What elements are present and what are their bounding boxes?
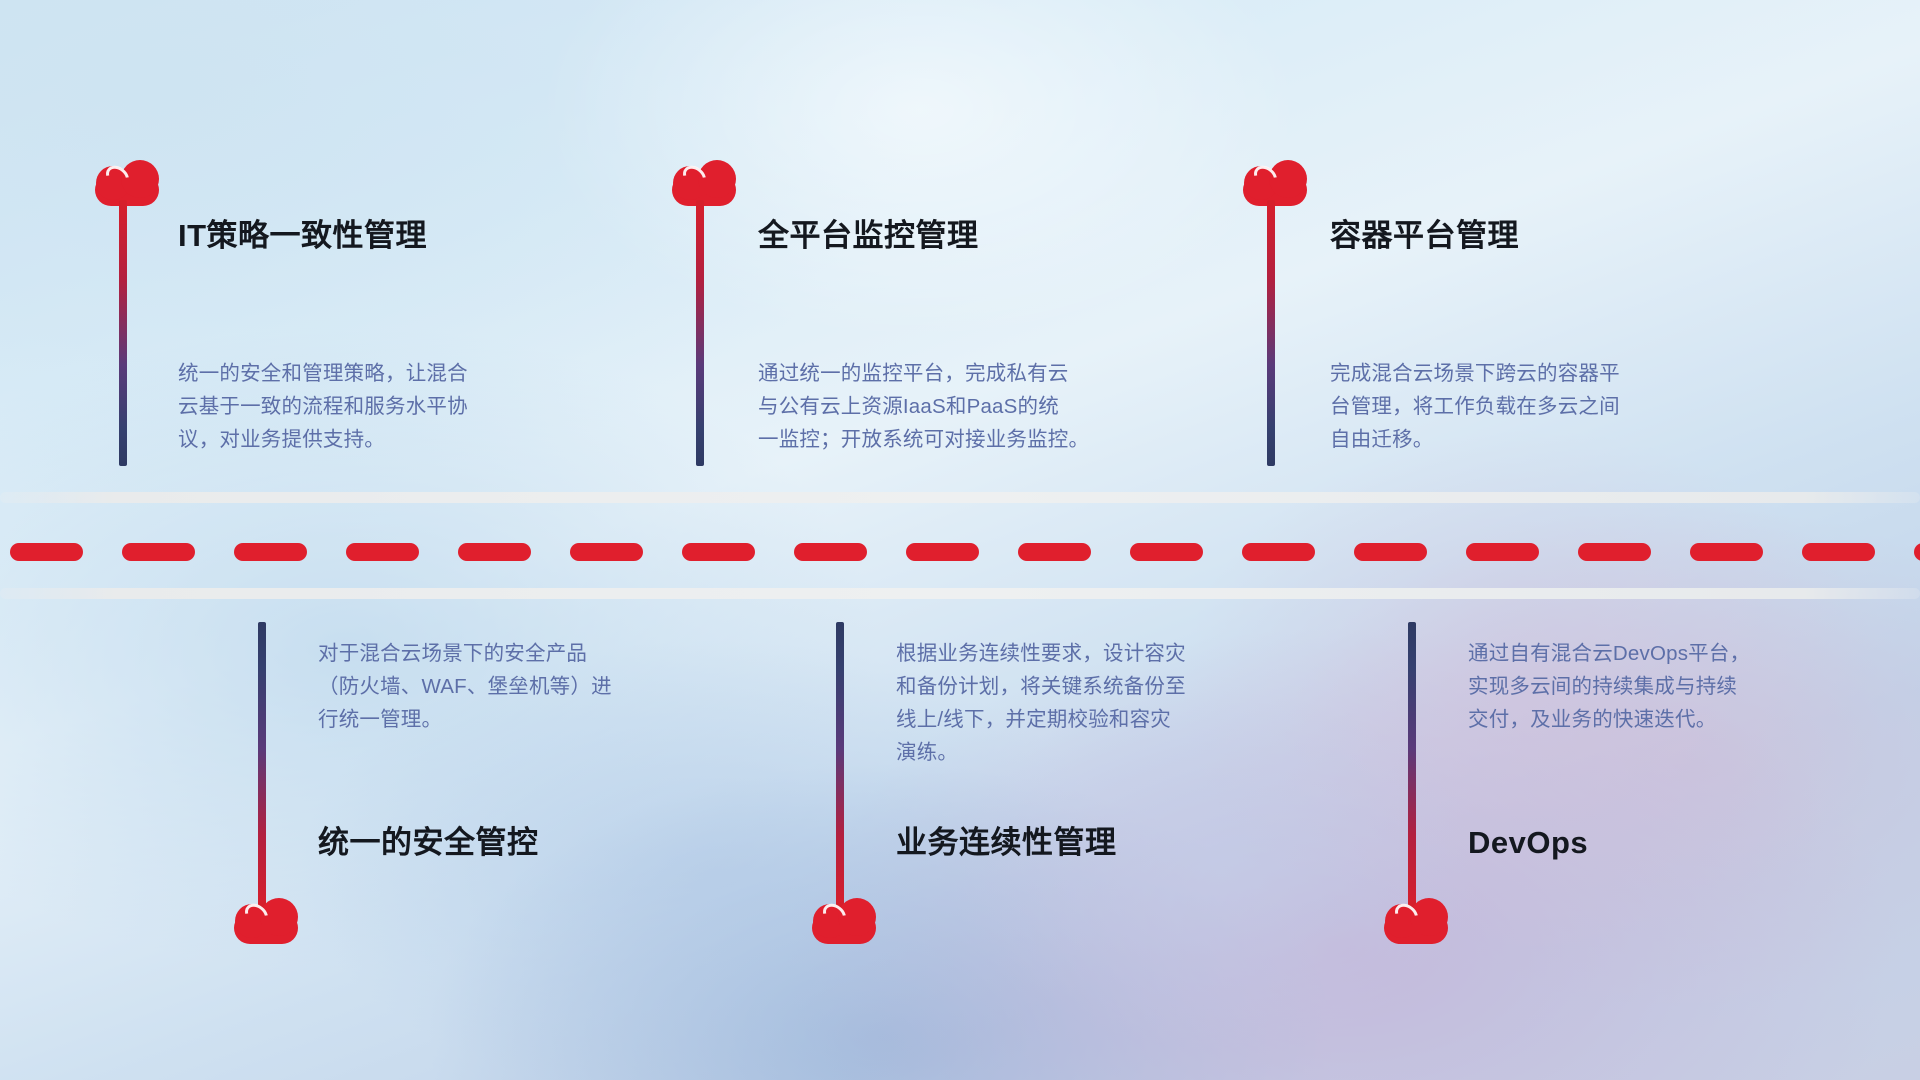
road-dash bbox=[1354, 543, 1427, 561]
item-description: 通过统一的监控平台，完成私有云 与公有云上资源IaaS和PaaS的统 一监控；开… bbox=[758, 357, 1198, 456]
road-dash bbox=[1466, 543, 1539, 561]
road-dash bbox=[1242, 543, 1315, 561]
road-dash bbox=[1914, 543, 1920, 561]
item-title: 业务连续性管理 bbox=[896, 827, 1117, 858]
road-dash bbox=[458, 543, 531, 561]
road-dash bbox=[906, 543, 979, 561]
road-dash bbox=[122, 543, 195, 561]
road-dash bbox=[1018, 543, 1091, 561]
road-dash bbox=[234, 543, 307, 561]
road-dash bbox=[794, 543, 867, 561]
road-dash bbox=[1578, 543, 1651, 561]
cloud-pin-icon bbox=[234, 898, 298, 944]
connector-stem bbox=[696, 200, 704, 466]
item-description: 统一的安全和管理策略，让混合 云基于一致的流程和服务水平协 议，对业务提供支持。 bbox=[178, 357, 608, 456]
connector-stem bbox=[119, 200, 127, 466]
road-dash bbox=[570, 543, 643, 561]
road-dash-line bbox=[0, 543, 1920, 561]
item-title: DevOps bbox=[1468, 827, 1588, 858]
road-dash bbox=[10, 543, 83, 561]
item-title: 统一的安全管控 bbox=[318, 827, 539, 858]
item-title: IT策略一致性管理 bbox=[178, 220, 427, 251]
road-dash bbox=[682, 543, 755, 561]
road-rail-bottom bbox=[0, 588, 1920, 599]
road-dash bbox=[1690, 543, 1763, 561]
item-title: 容器平台管理 bbox=[1330, 220, 1519, 251]
item-description: 通过自有混合云DevOps平台， 实现多云间的持续集成与持续 交付，及业务的快速… bbox=[1468, 637, 1888, 736]
item-description: 对于混合云场景下的安全产品 （防火墙、WAF、堡垒机等）进 行统一管理。 bbox=[318, 637, 738, 736]
road-dash bbox=[1802, 543, 1875, 561]
item-description: 完成混合云场景下跨云的容器平 台管理，将工作负载在多云之间 自由迁移。 bbox=[1330, 357, 1760, 456]
connector-stem bbox=[258, 622, 266, 910]
background-bloom bbox=[540, 0, 1300, 340]
road-dash bbox=[346, 543, 419, 561]
connector-stem bbox=[836, 622, 844, 910]
connector-stem bbox=[1267, 200, 1275, 466]
item-description: 根据业务连续性要求，设计容灾 和备份计划，将关键系统备份至 线上/线下，并定期校… bbox=[896, 637, 1326, 769]
cloud-pin-icon bbox=[812, 898, 876, 944]
cloud-pin-icon bbox=[1243, 160, 1307, 206]
road-rail-top bbox=[0, 492, 1920, 503]
cloud-pin-icon bbox=[672, 160, 736, 206]
cloud-pin-icon bbox=[95, 160, 159, 206]
item-title: 全平台监控管理 bbox=[758, 220, 979, 251]
infographic-canvas: IT策略一致性管理 统一的安全和管理策略，让混合 云基于一致的流程和服务水平协 … bbox=[0, 0, 1920, 1080]
road-dash bbox=[1130, 543, 1203, 561]
connector-stem bbox=[1408, 622, 1416, 910]
cloud-pin-icon bbox=[1384, 898, 1448, 944]
